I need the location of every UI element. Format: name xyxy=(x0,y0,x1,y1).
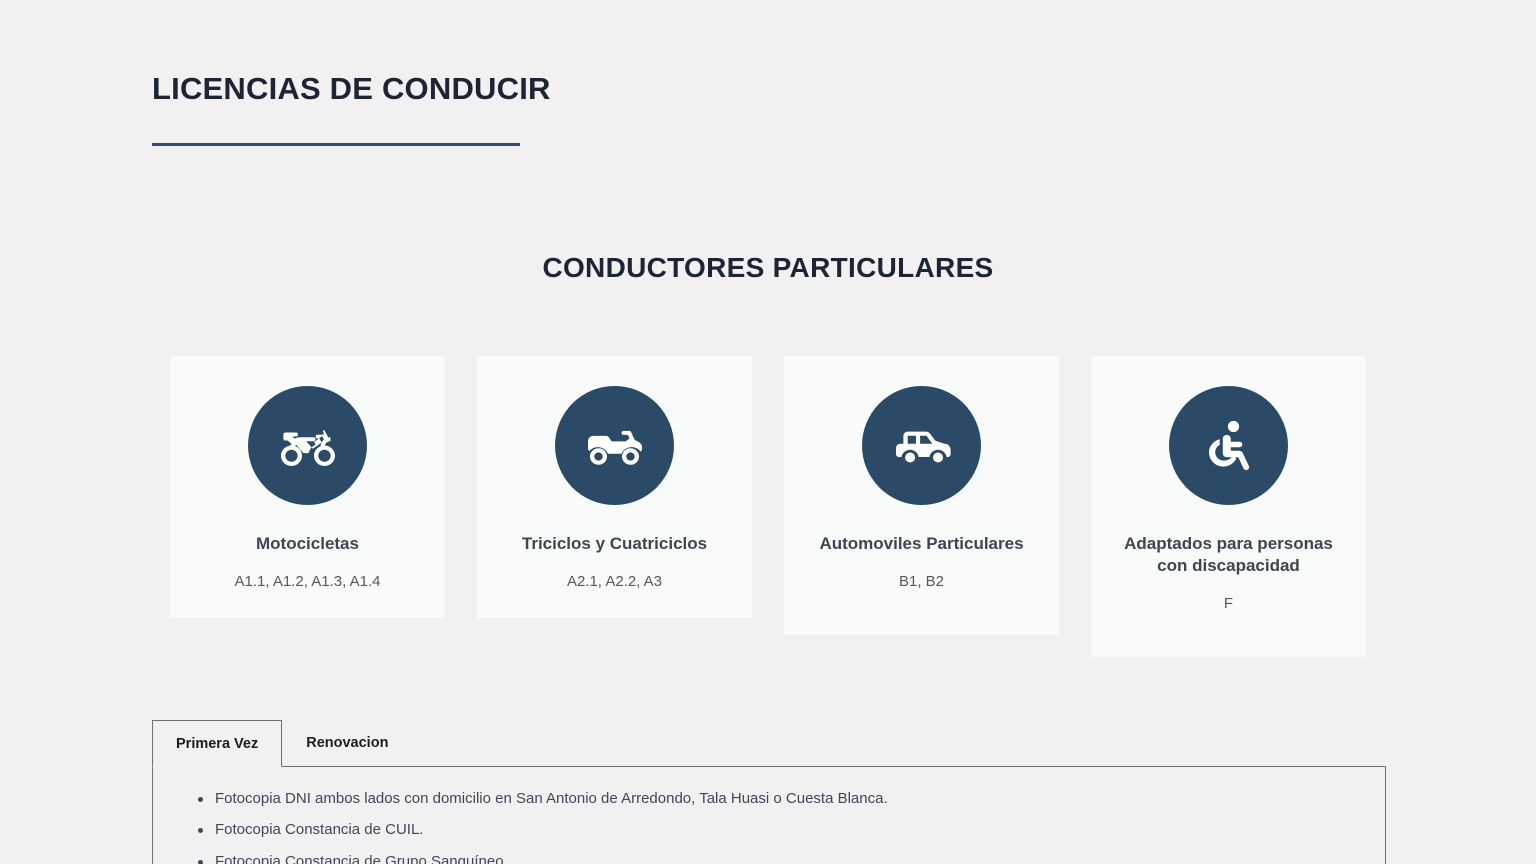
page-header: LICENCIAS DE CONDUCIR xyxy=(152,72,1052,146)
section-heading: CONDUCTORES PARTICULARES xyxy=(0,252,1536,284)
license-card-codes: F xyxy=(1224,594,1233,614)
quad-bike-icon xyxy=(555,386,674,505)
wheelchair-icon xyxy=(1169,386,1288,505)
license-card-codes: A1.1, A1.2, A1.3, A1.4 xyxy=(235,572,381,592)
license-card-triciclos-cuatriciclos[interactable]: Triciclos y Cuatriciclos A2.1, A2.2, A3 xyxy=(477,356,752,618)
tab-panel-primera-vez: Fotocopia DNI ambos lados con domicilio … xyxy=(152,766,1386,864)
license-card-motocicletas[interactable]: Motocicletas A1.1, A1.2, A1.3, A1.4 xyxy=(170,356,445,618)
license-card-title: Motocicletas xyxy=(256,533,359,555)
page-title: LICENCIAS DE CONDUCIR xyxy=(152,72,1052,106)
license-card-title: Adaptados para personas con discapacidad xyxy=(1109,533,1348,577)
tab-renovacion[interactable]: Renovacion xyxy=(282,719,412,767)
title-underline-rule xyxy=(152,143,520,146)
license-card-codes: A2.1, A2.2, A3 xyxy=(567,572,662,592)
requirements-list: Fotocopia DNI ambos lados con domicilio … xyxy=(183,789,1355,864)
requirements-tabs-section: Primera Vez Renovacion Fotocopia DNI amb… xyxy=(152,712,1386,864)
license-card-codes: B1, B2 xyxy=(899,572,944,592)
license-card-automoviles-particulares[interactable]: Automoviles Particulares B1, B2 xyxy=(784,356,1059,635)
license-card-title: Triciclos y Cuatriciclos xyxy=(522,533,707,555)
license-card-adaptados-discapacidad[interactable]: Adaptados para personas con discapacidad… xyxy=(1091,356,1366,657)
list-item: Fotocopia DNI ambos lados con domicilio … xyxy=(215,789,1355,809)
tab-primera-vez[interactable]: Primera Vez xyxy=(152,720,282,768)
car-icon xyxy=(862,386,981,505)
license-card-title: Automoviles Particulares xyxy=(819,533,1023,555)
list-item: Fotocopia Constancia de CUIL. xyxy=(215,820,1355,840)
motorcycle-icon xyxy=(248,386,367,505)
list-item: Fotocopia Constancia de Grupo Sanguíneo. xyxy=(215,852,1355,864)
tabstrip: Primera Vez Renovacion xyxy=(152,712,1386,766)
license-category-cards: Motocicletas A1.1, A1.2, A1.3, A1.4 Tric… xyxy=(170,356,1366,657)
